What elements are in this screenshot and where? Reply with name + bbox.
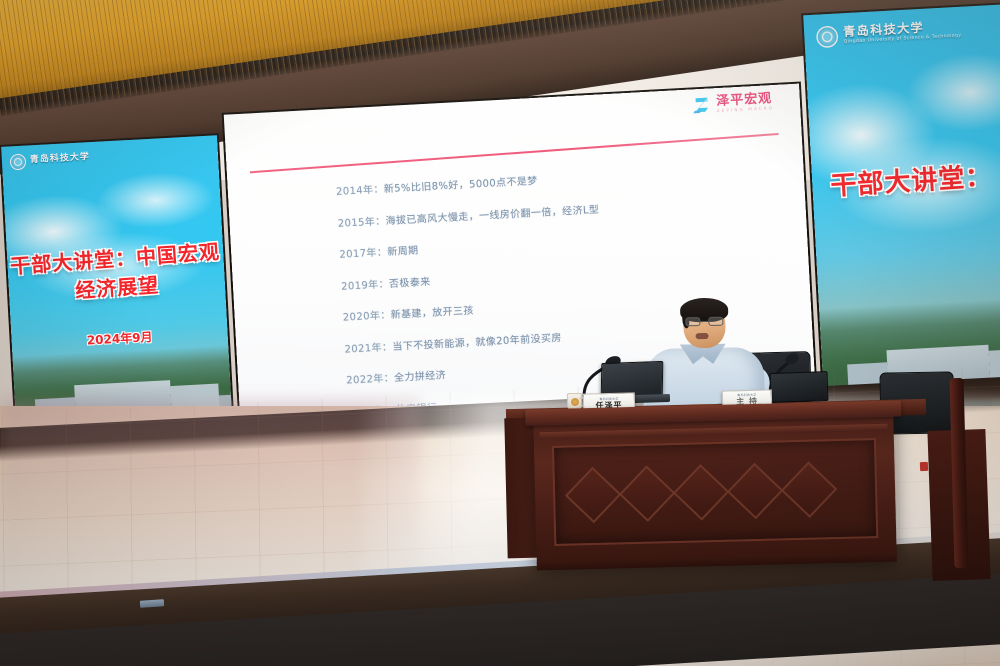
diamond-ornament xyxy=(727,463,784,520)
floor-reflection xyxy=(0,400,420,590)
diamond-ornament xyxy=(619,465,676,522)
bullet-text: 海拔已高风大慢走，一线房价翻一倍，经济L型 xyxy=(385,200,599,227)
glasses-icon xyxy=(684,317,724,327)
university-seal-icon xyxy=(10,154,27,171)
logo-text-en: ZEPING MACRO xyxy=(717,106,775,113)
z-mark-icon xyxy=(691,94,712,115)
bullet-year: 2014年： xyxy=(336,180,385,198)
zeping-macro-logo: 泽平宏观 ZEPING MACRO xyxy=(691,91,774,115)
bullet-year: 2022年： xyxy=(346,369,395,387)
bullet-year: 2021年： xyxy=(344,338,393,356)
podium-front-panel xyxy=(552,438,878,546)
speaker-mouth xyxy=(696,333,709,339)
bullet-text: 全力拼经济 xyxy=(394,366,447,384)
podium-rail xyxy=(540,424,888,440)
bullet-year: 2020年： xyxy=(342,306,391,324)
floor-red-marker xyxy=(920,462,928,471)
table-side-panel xyxy=(504,418,537,559)
university-name-right: 青岛科技大学 Qingdao University of Science & T… xyxy=(843,21,962,45)
laptop-screen xyxy=(769,371,828,403)
bullet-year: 2019年： xyxy=(341,275,390,293)
university-name-left: 青岛科技大学 xyxy=(30,153,90,166)
tea-mug xyxy=(567,393,582,409)
list-item: 2019年： 否极泰来 xyxy=(341,254,771,292)
list-item: 2015年： 海拔已高风大慢走，一线房价翻一倍，经济L型 xyxy=(337,191,767,229)
bullet-text: 新周期 xyxy=(387,241,419,258)
diamond-ornament xyxy=(673,464,730,521)
diamond-ornament xyxy=(565,467,622,524)
bullet-year: 2017年： xyxy=(339,243,388,261)
bullet-text: 新5%比旧8%好，5000点不是梦 xyxy=(383,172,538,195)
bullet-text: 当下不投新能源，就像20年前没买房 xyxy=(392,328,562,352)
bullet-text: 否极泰来 xyxy=(388,272,430,289)
bullet-year: 2015年： xyxy=(337,212,386,230)
sky-clouds xyxy=(805,28,1000,284)
lecture-hall-photo: 青岛科技大学 干部大讲堂：中国宏观经济展望 2024年9月 泽平宏观 ZEPIN… xyxy=(0,0,1000,666)
diamond-ornament xyxy=(781,461,838,518)
podium xyxy=(533,410,896,565)
list-item: 2014年： 新5%比旧8%好，5000点不是梦 xyxy=(336,160,766,198)
university-seal-icon xyxy=(816,25,839,48)
bullet-text: 新基建，放开三孩 xyxy=(390,302,474,321)
list-item: 2017年： 新周期 xyxy=(339,223,769,261)
